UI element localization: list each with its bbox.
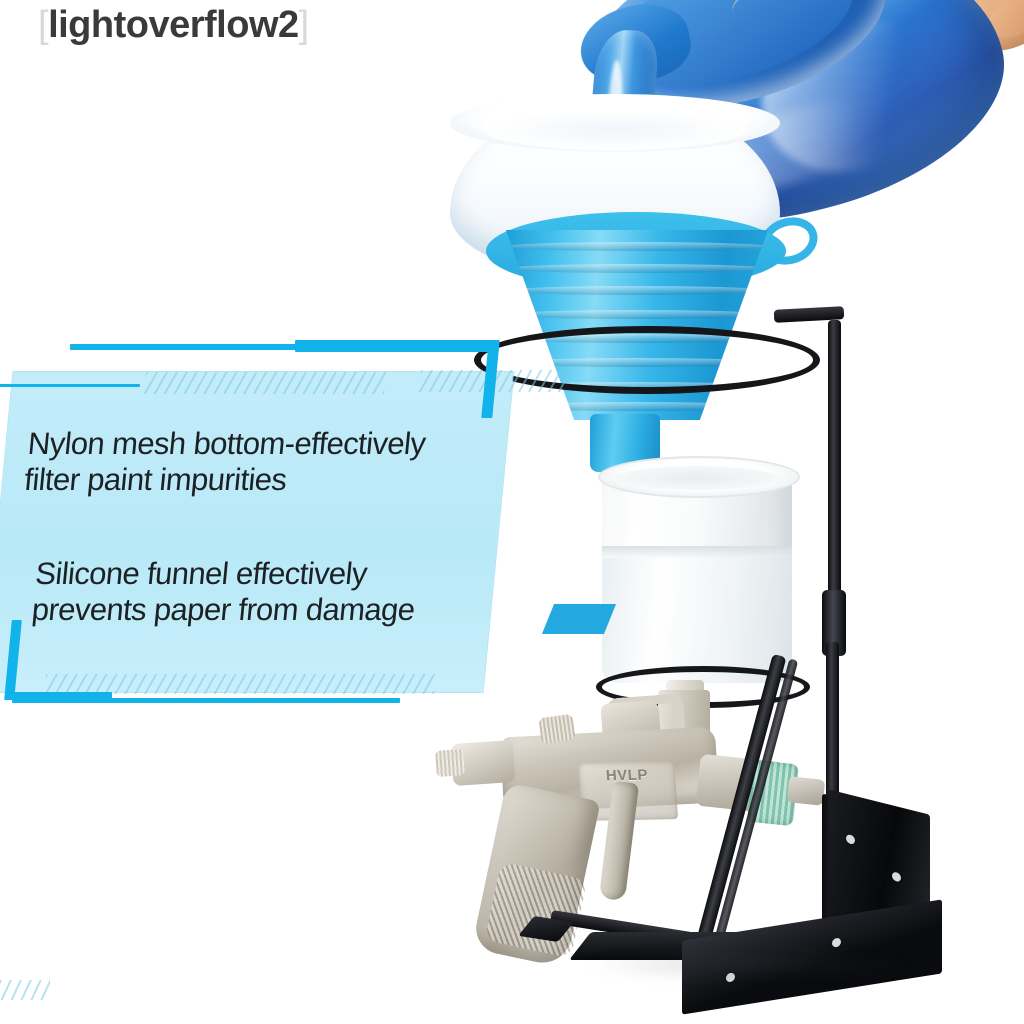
paint-cup-band: [602, 546, 792, 558]
watermark-bracket-close: ]: [299, 4, 309, 46]
gun-inlet-fitting: [787, 776, 826, 806]
watermark: [lightoverflow2]: [38, 4, 309, 47]
callout-bracket-bottom-left-h: [12, 692, 112, 703]
callout-hatch-top-left: [144, 372, 386, 394]
callout-hatch-bottom: [44, 674, 436, 694]
callout-edge-left: [0, 384, 140, 387]
callout-bracket-top-right-h: [295, 340, 495, 352]
paint-cup-opening: [616, 466, 778, 490]
product-image-canvas: HVLP: [0, 0, 1024, 1024]
feature-callout: Nylon mesh bottom-effectively filter pai…: [0, 330, 570, 750]
paper-filter-inner: [484, 110, 746, 150]
callout-paragraph-1: Nylon mesh bottom-effectively filter pai…: [23, 426, 500, 498]
callout-hatch-bottom-left: [0, 980, 50, 1000]
watermark-bracket-open: [: [38, 4, 48, 46]
callout-accent-tab: [542, 604, 616, 634]
watermark-text: lightoverflow2: [48, 4, 299, 46]
callout-bracket-top-left: [70, 344, 298, 350]
drop-shadow: [580, 950, 920, 980]
callout-bracket-bottom: [110, 698, 400, 703]
paint-cup-lower: [602, 558, 792, 683]
callout-text-block: Nylon mesh bottom-effectively filter pai…: [10, 426, 499, 628]
callout-paragraph-2: Silicone funnel effectively prevents pap…: [30, 556, 487, 628]
gun-air-cap: [435, 749, 465, 777]
